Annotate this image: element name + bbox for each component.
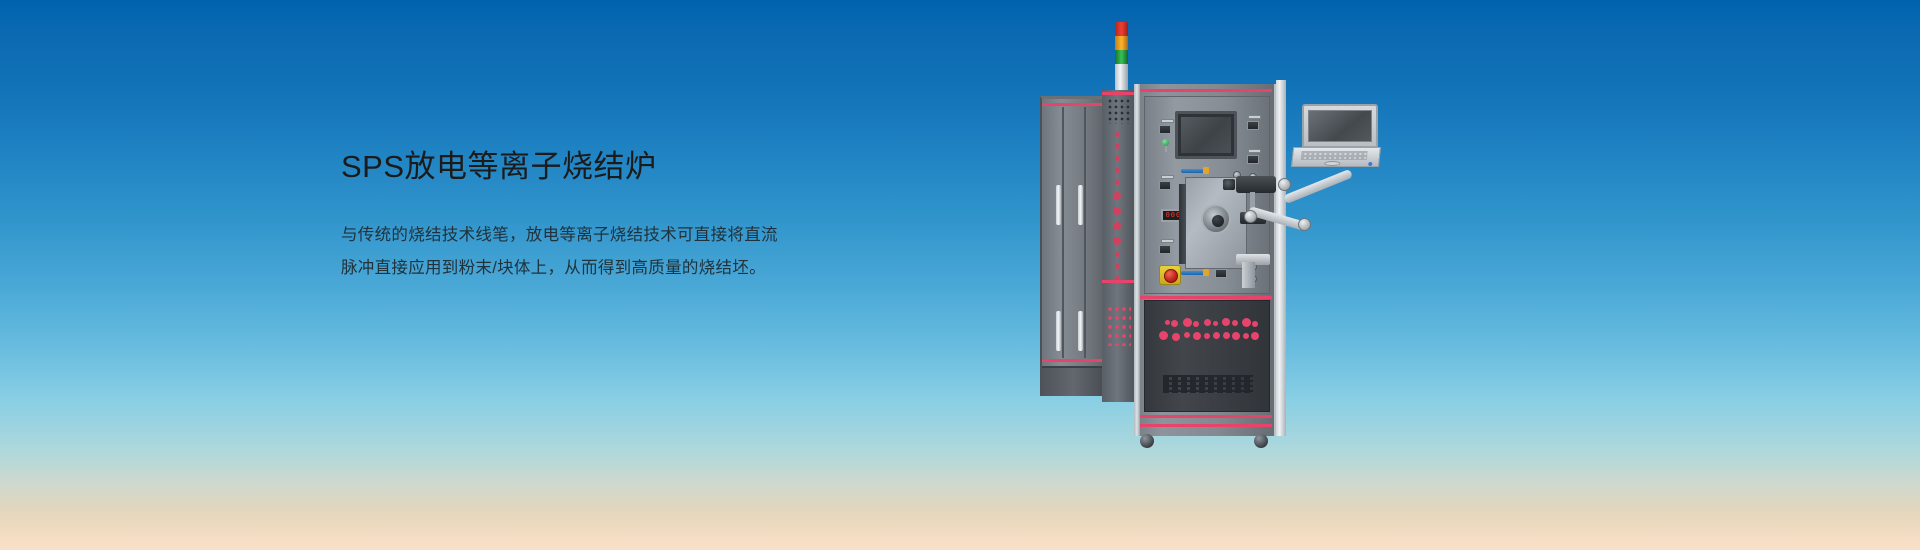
indicator-lamp: [1113, 222, 1121, 230]
arm-joint[interactable]: [1244, 210, 1257, 223]
panel-dot: [1232, 320, 1238, 326]
cabinet-handle[interactable]: [1078, 185, 1083, 225]
cabinet-base: [1042, 366, 1105, 396]
stack-light-red-icon: [1115, 22, 1128, 36]
indicator-lamp: [1113, 237, 1121, 245]
indicator-lamp: [1115, 144, 1120, 149]
panel-dot: [1252, 321, 1258, 327]
panel-label: [1161, 119, 1174, 123]
accent-stripe: [1140, 415, 1272, 418]
indicator-column: [1102, 90, 1136, 402]
panel-dot: [1204, 333, 1210, 339]
hmi-touchscreen[interactable]: [1175, 111, 1237, 159]
indicator-lamp-list: [1108, 132, 1130, 288]
laptop-lid: [1302, 104, 1378, 148]
arm-joint[interactable]: [1278, 178, 1291, 191]
caster-wheel-icon: [1140, 434, 1154, 448]
hero-banner: SPS放电等离子烧结炉 与传统的烧结技术线笔，放电等离子烧结技术可直接将直流 脉…: [0, 0, 1920, 550]
panel-dot: [1183, 318, 1192, 327]
vent-grille-icon: [1107, 98, 1131, 124]
laptop-keyboard-icon[interactable]: [1301, 151, 1368, 160]
perforated-dot-pattern: [1159, 317, 1259, 347]
auxiliary-cabinet: [1040, 96, 1105, 396]
key-switch[interactable]: [1162, 139, 1169, 151]
indicator-lamp: [1115, 264, 1120, 269]
indicator-lamp: [1115, 180, 1120, 185]
panel-label: [1248, 149, 1261, 153]
caster-wheel: [1140, 434, 1154, 450]
hero-description-line-2: 脉冲直接应用到粉末/块体上，从而得到高质量的烧结坯。: [341, 252, 941, 285]
panel-dot: [1232, 332, 1240, 340]
cabinet-handle[interactable]: [1056, 311, 1061, 351]
pipe-fitting: [1203, 167, 1209, 174]
panel-dot: [1184, 332, 1190, 338]
cabinet-handle[interactable]: [1056, 185, 1061, 225]
observation-camera-body: [1236, 176, 1276, 193]
panel-dot: [1165, 320, 1170, 325]
sps-furnace-illustration: 0000: [1040, 22, 1380, 434]
hero-description: 与传统的烧结技术线笔，放电等离子烧结技术可直接将直流 脉冲直接应用到粉末/块体上…: [341, 219, 941, 285]
laptop-power-led-icon: [1368, 162, 1372, 166]
page-title: SPS放电等离子烧结炉: [341, 148, 941, 185]
key-switch-knob-icon: [1162, 139, 1169, 146]
lower-vent-grille-icon: [1163, 375, 1253, 393]
toggle-switch[interactable]: [1159, 245, 1171, 254]
indicator-lamp: [1115, 252, 1120, 257]
laptop-trackpad[interactable]: [1324, 161, 1341, 166]
panel-label: [1248, 115, 1261, 119]
caster-wheel: [1254, 434, 1268, 450]
accent-stripe: [1102, 280, 1136, 283]
accent-stripe: [1140, 296, 1272, 299]
panel-dot: [1213, 332, 1220, 339]
stack-light-amber-icon: [1115, 36, 1128, 50]
toggle-switch[interactable]: [1247, 121, 1259, 130]
emergency-stop-button[interactable]: [1159, 265, 1181, 285]
hero-text-block: SPS放电等离子烧结炉 与传统的烧结技术线笔，放电等离子烧结技术可直接将直流 脉…: [341, 148, 941, 285]
sight-glass-viewport-icon: [1201, 204, 1231, 234]
caster-wheel-icon: [1254, 434, 1268, 448]
pipe-fitting: [1203, 269, 1209, 276]
panel-dot: [1171, 320, 1178, 327]
indicator-lamp: [1115, 132, 1120, 137]
panel-dot: [1251, 332, 1259, 340]
control-laptop[interactable]: [1292, 104, 1380, 178]
panel-label: [1161, 175, 1174, 179]
arm-clamp: [1242, 262, 1255, 288]
coolant-pipe: [1181, 169, 1205, 173]
lower-access-panel: [1144, 300, 1270, 412]
panel-dot: [1243, 333, 1249, 339]
indicator-lamp: [1113, 192, 1121, 200]
camera-lens-icon: [1223, 179, 1235, 190]
chamber-rail: [1179, 184, 1186, 264]
indicator-lamp: [1113, 207, 1121, 215]
panel-dot: [1193, 332, 1201, 340]
indicator-lamp: [1115, 168, 1120, 173]
toggle-switch[interactable]: [1215, 269, 1227, 278]
accent-stripe: [1042, 103, 1105, 106]
laptop-base: [1291, 147, 1381, 167]
indicator-lamp: [1115, 156, 1120, 161]
emergency-stop-cap-icon: [1164, 269, 1178, 283]
panel-label: [1161, 239, 1174, 243]
hero-description-line-1: 与传统的烧结技术线笔，放电等离子烧结技术可直接将直流: [341, 219, 941, 252]
panel-dot: [1223, 332, 1230, 339]
arm-joint[interactable]: [1298, 218, 1311, 231]
accent-stripe: [1140, 89, 1272, 92]
panel-dot: [1159, 331, 1168, 340]
panel-dot: [1242, 318, 1251, 327]
accent-stripe: [1042, 359, 1105, 362]
stack-light-green-icon: [1115, 50, 1128, 64]
cabinet-door-seam: [1062, 107, 1064, 358]
screen-glass: [1181, 117, 1231, 153]
panel-dot: [1204, 319, 1211, 326]
articulating-arm[interactable]: [1230, 162, 1380, 292]
panel-dot: [1222, 318, 1230, 326]
toggle-switch[interactable]: [1159, 125, 1171, 134]
cabinet-door-seam: [1084, 107, 1086, 358]
button-grid[interactable]: [1107, 306, 1131, 346]
key-switch-stem: [1165, 146, 1167, 152]
accent-stripe: [1102, 92, 1136, 95]
panel-dot: [1213, 321, 1218, 326]
laptop-screen[interactable]: [1308, 110, 1372, 142]
coolant-pipe: [1181, 271, 1205, 275]
accent-stripe: [1140, 424, 1272, 427]
panel-dot: [1172, 333, 1180, 341]
body-edge: [1134, 84, 1140, 436]
toggle-switch[interactable]: [1159, 181, 1171, 190]
cabinet-handle[interactable]: [1078, 311, 1083, 351]
panel-dot: [1193, 321, 1199, 327]
